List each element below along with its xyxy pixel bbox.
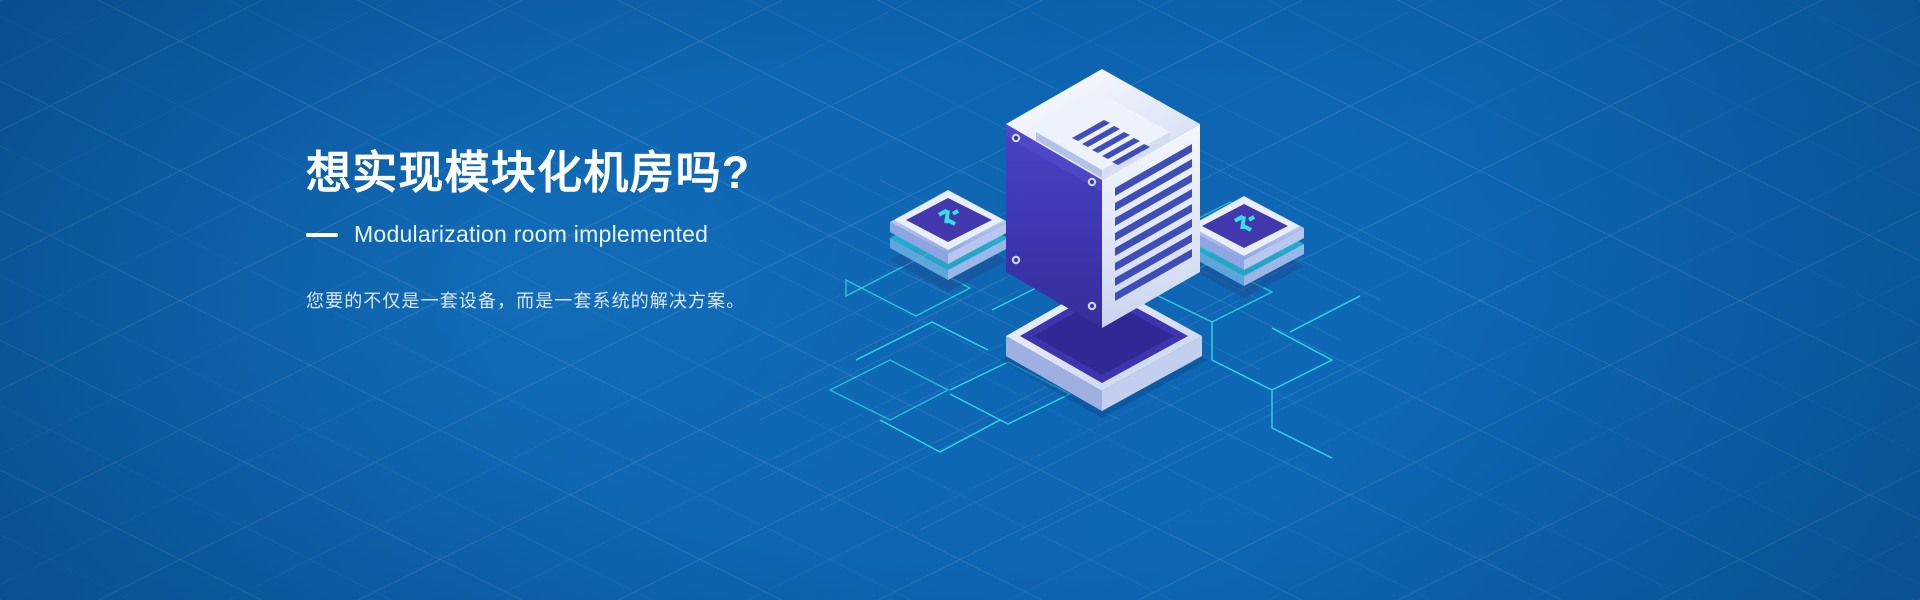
subheadline: Modularization room implemented: [354, 221, 708, 248]
chip-module-left: [890, 190, 1008, 292]
isometric-datacenter-illustration: [820, 60, 1380, 540]
hero-banner: 想实现模块化机房吗? Modularization room implement…: [0, 0, 1920, 600]
server-rack: [1000, 69, 1208, 418]
divider-dash-icon: [306, 233, 338, 237]
